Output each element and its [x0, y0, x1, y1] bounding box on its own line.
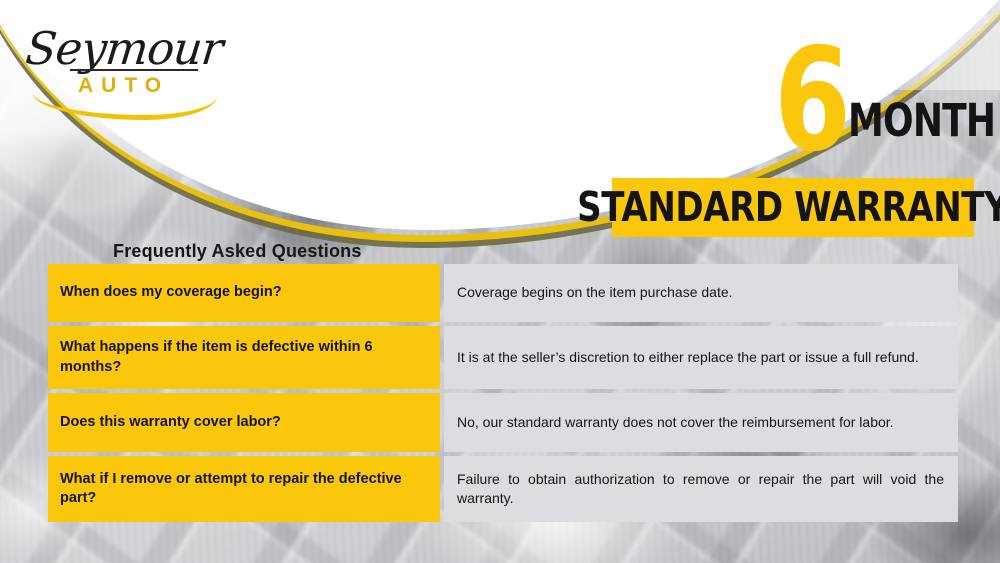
- faq-heading: Frequently Asked Questions: [113, 241, 362, 262]
- standard-warranty-banner: STANDARD WARRANTY: [612, 178, 974, 237]
- faq-question-cell: Does this warranty cover labor?: [48, 393, 440, 452]
- warranty-duration-headline: 6 MONTH: [770, 44, 980, 170]
- table-row: Does this warranty cover labor? No, our …: [48, 393, 958, 452]
- faq-question-cell: What if I remove or attempt to repair th…: [48, 456, 440, 522]
- standard-warranty-banner-text: STANDARD WARRANTY: [577, 187, 1000, 228]
- faq-answer-cell: It is at the seller’s discretion to eith…: [444, 326, 958, 389]
- logo-underline-rule: [70, 69, 198, 71]
- duration-number: 6: [774, 30, 848, 172]
- table-row: What happens if the item is defective wi…: [48, 326, 958, 389]
- faq-answer-cell: Failure to obtain authorization to remov…: [444, 456, 958, 522]
- faq-table: When does my coverage begin? Coverage be…: [48, 264, 958, 522]
- duration-unit: MONTH: [848, 98, 995, 143]
- table-row: When does my coverage begin? Coverage be…: [48, 264, 958, 322]
- table-row: What if I remove or attempt to repair th…: [48, 456, 958, 522]
- faq-answer-cell: Coverage begins on the item purchase dat…: [444, 264, 958, 322]
- faq-answer-cell: No, our standard warranty does not cover…: [444, 393, 958, 452]
- faq-question-cell: When does my coverage begin?: [48, 264, 440, 322]
- logo-brand-sub: AUTO: [78, 74, 169, 98]
- warranty-slide: Seymour AUTO 6 MONTH STANDARD WARRANTY F…: [0, 0, 1000, 563]
- seymour-auto-logo[interactable]: Seymour AUTO: [22, 16, 222, 108]
- faq-question-cell: What happens if the item is defective wi…: [48, 326, 440, 389]
- logo-brand-script: Seymour: [23, 22, 225, 75]
